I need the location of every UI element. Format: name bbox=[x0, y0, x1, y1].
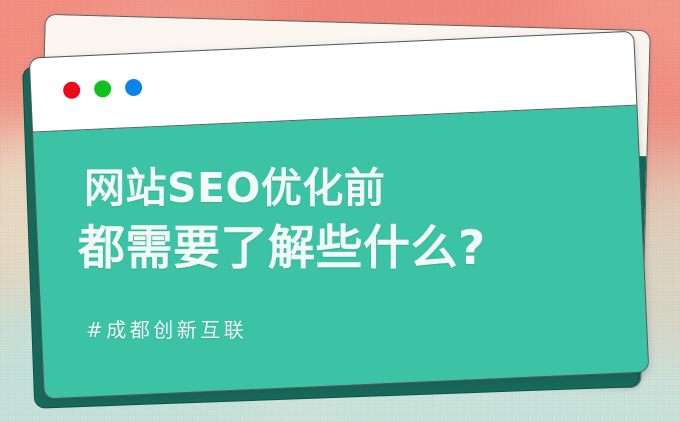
traffic-light-dots bbox=[63, 79, 143, 99]
headline-line-1: 网站SEO优化前 bbox=[84, 168, 598, 209]
close-dot-icon[interactable] bbox=[63, 81, 81, 99]
poster-text-block: 网站SEO优化前 都需要了解些什么? #成都创新互联 bbox=[78, 168, 598, 343]
minimize-dot-icon[interactable] bbox=[94, 80, 112, 98]
headline-line-2: 都需要了解些什么? bbox=[78, 225, 598, 272]
hashtag-label: #成都创新互联 bbox=[86, 314, 598, 343]
poster-stage: 网站SEO优化前 都需要了解些什么? #成都创新互联 bbox=[0, 0, 680, 422]
maximize-dot-icon[interactable] bbox=[125, 79, 143, 97]
